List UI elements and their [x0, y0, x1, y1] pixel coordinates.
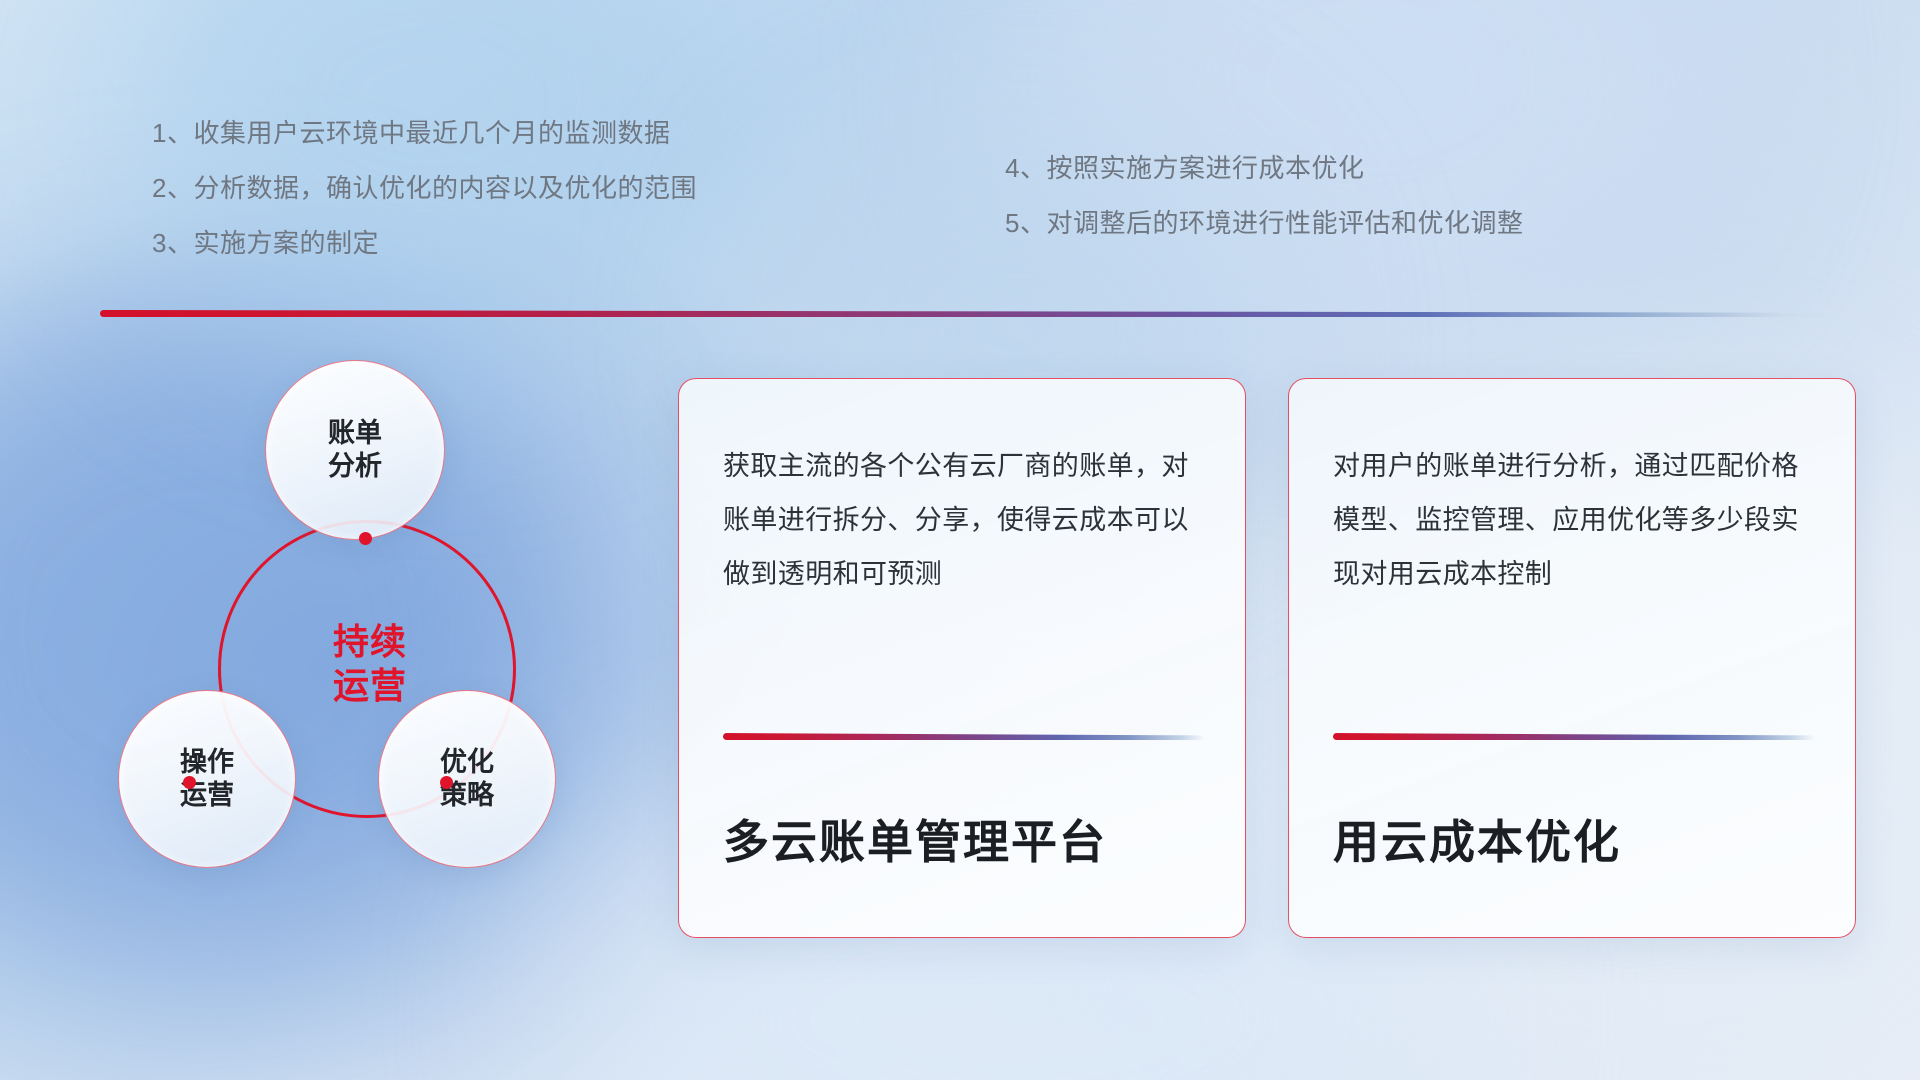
feature-card-multicloud-billing[interactable]: 获取主流的各个公有云厂商的账单，对账单进行拆分、分享，使得云成本可以做到透明和可… — [678, 378, 1246, 938]
center-label-line1: 持续 — [250, 620, 490, 664]
step-item-2: 2、分析数据，确认优化的内容以及优化的范围 — [152, 175, 697, 201]
feature-card-cost-optimization[interactable]: 对用户的账单进行分析，通过匹配价格模型、监控管理、应用优化等多少段实现对用云成本… — [1288, 378, 1856, 938]
connector-dot-top-icon — [359, 532, 372, 545]
slide-canvas: 1、收集用户云环境中最近几个月的监测数据 2、分析数据，确认优化的内容以及优化的… — [0, 0, 1920, 1080]
connector-dot-left-icon — [183, 776, 196, 789]
step-item-5: 5、对调整后的环境进行性能评估和优化调整 — [1005, 210, 1523, 236]
step-item-4: 4、按照实施方案进行成本优化 — [1005, 155, 1523, 181]
connector-dot-right-icon — [440, 776, 453, 789]
bubble-label-line2: 分析 — [328, 450, 382, 483]
cycle-diagram: 账单 分析 操作 运营 优化 策略 持续 运营 — [100, 350, 620, 950]
step-item-3: 3、实施方案的制定 — [152, 230, 697, 256]
bubble-label-line1: 账单 — [328, 417, 382, 450]
step-item-1: 1、收集用户云环境中最近几个月的监测数据 — [152, 120, 697, 146]
diagram-bubble-billing-analysis[interactable]: 账单 分析 — [265, 360, 445, 540]
header-divider — [100, 310, 1838, 317]
center-label-line2: 运营 — [250, 664, 490, 708]
card-body-text: 对用户的账单进行分析，通过匹配价格模型、监控管理、应用优化等多少段实现对用云成本… — [1333, 439, 1811, 719]
bubble-label-line1: 操作 — [180, 746, 234, 779]
steps-list-left: 1、收集用户云环境中最近几个月的监测数据 2、分析数据，确认优化的内容以及优化的… — [152, 120, 697, 285]
bubble-label-line1: 优化 — [440, 746, 494, 779]
diagram-bubble-optimization-strategy[interactable]: 优化 策略 — [378, 690, 556, 868]
card-divider — [1333, 733, 1815, 740]
card-title: 多云账单管理平台 — [723, 806, 1201, 872]
diagram-bubble-operations[interactable]: 操作 运营 — [118, 690, 296, 868]
card-divider — [723, 733, 1205, 740]
card-title: 用云成本优化 — [1333, 806, 1811, 872]
steps-list-right: 4、按照实施方案进行成本优化 5、对调整后的环境进行性能评估和优化调整 — [1005, 155, 1523, 265]
diagram-center-label: 持续 运营 — [250, 620, 490, 708]
card-body-text: 获取主流的各个公有云厂商的账单，对账单进行拆分、分享，使得云成本可以做到透明和可… — [723, 439, 1201, 719]
